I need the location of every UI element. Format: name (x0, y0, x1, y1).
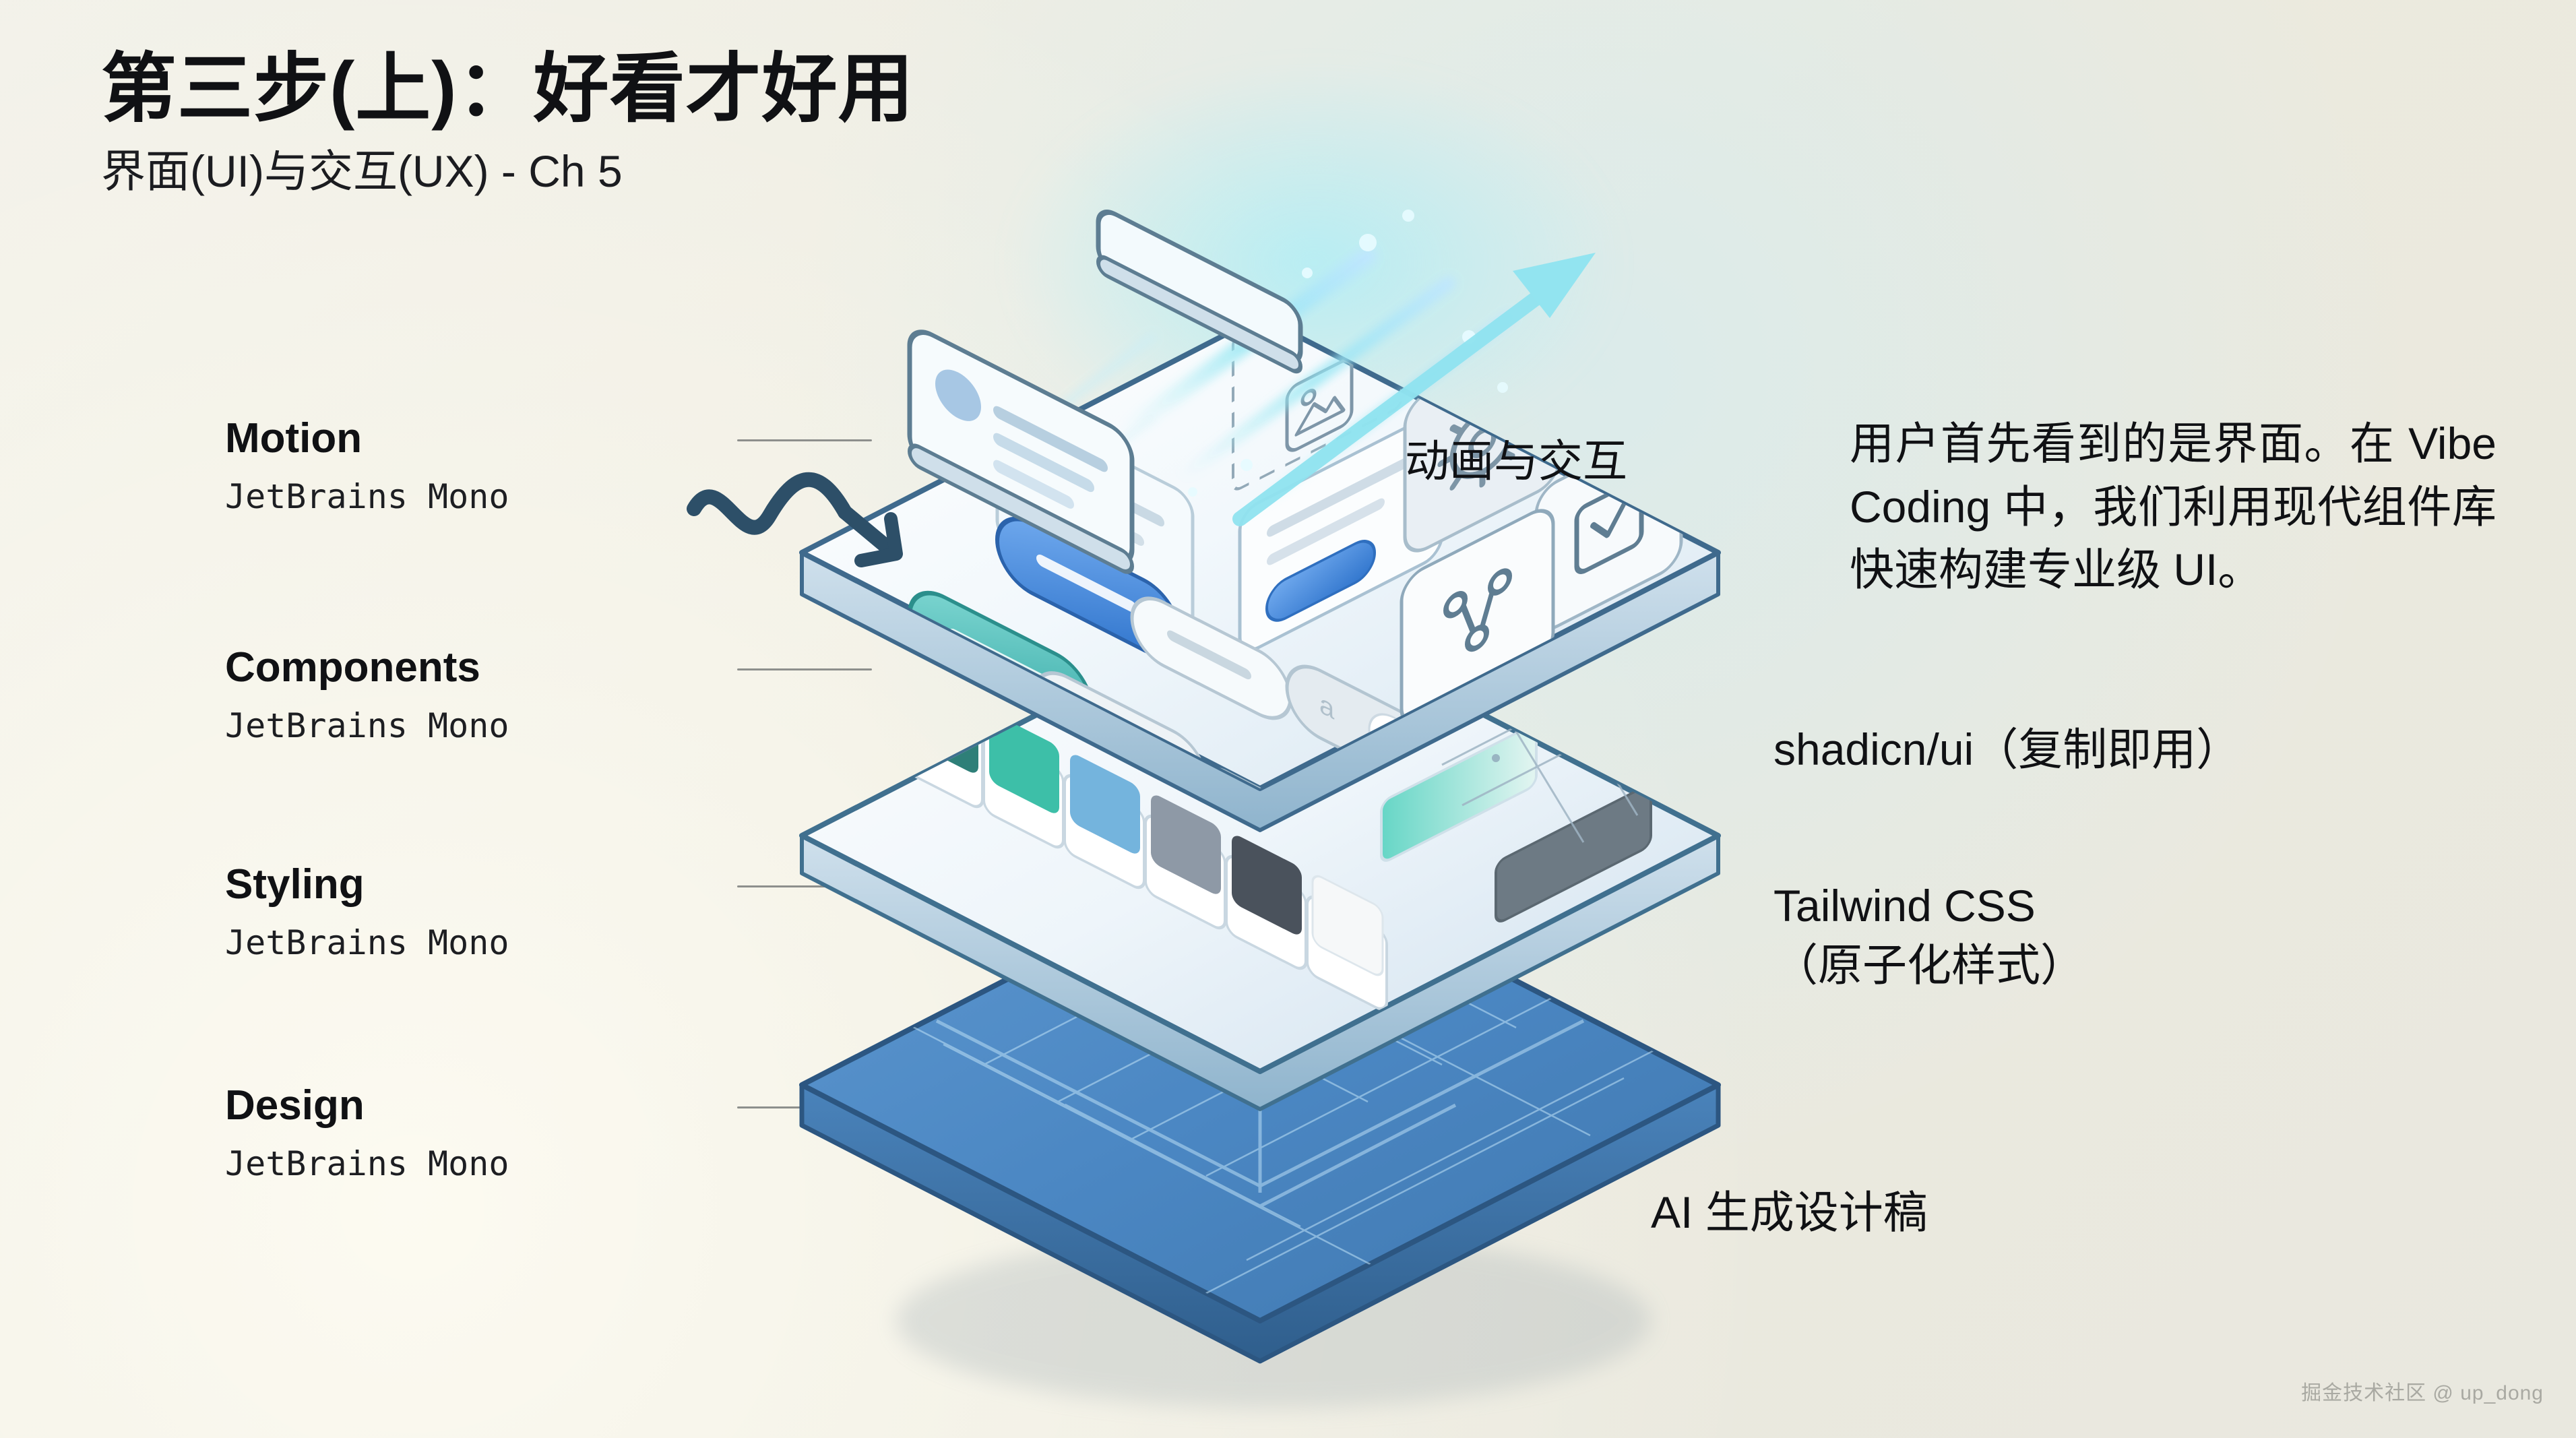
layer-label-design[interactable]: Design JetBrains Mono (225, 1085, 831, 1181)
layer-font-tag: JetBrains Mono (225, 1147, 831, 1181)
layer-name: Components (225, 647, 831, 689)
callout-design: AI 生成设计稿 (1651, 1183, 1928, 1242)
layer-font-tag: JetBrains Mono (225, 926, 831, 960)
callout-styling: Tailwind CSS （原子化样式） (1773, 876, 2085, 995)
layer-name: Design (225, 1085, 831, 1127)
layer-name: Motion (225, 418, 831, 460)
lede-paragraph: 用户首先看到的是界面。在 Vibe Coding 中，我们利用现代组件库快速构建… (1850, 412, 2496, 602)
callout-styling-line1: Tailwind CSS (1773, 876, 2085, 935)
watermark: 掘金技术社区 @ up_dong (2301, 1376, 2544, 1406)
layer-label-components[interactable]: Components JetBrains Mono (225, 647, 831, 743)
layer-font-tag: JetBrains Mono (225, 709, 831, 743)
layer-font-tag: JetBrains Mono (225, 480, 831, 513)
callout-components: shadicn/ui（复制即用） (1773, 720, 2240, 779)
layer-label-styling[interactable]: Styling JetBrains Mono (225, 864, 831, 960)
callout-motion: 动画与交互 (1405, 431, 1627, 491)
callout-styling-line2: （原子化样式） (1773, 935, 2085, 995)
layer-label-motion[interactable]: Motion JetBrains Mono (225, 418, 831, 513)
layer-name: Styling (225, 864, 831, 906)
